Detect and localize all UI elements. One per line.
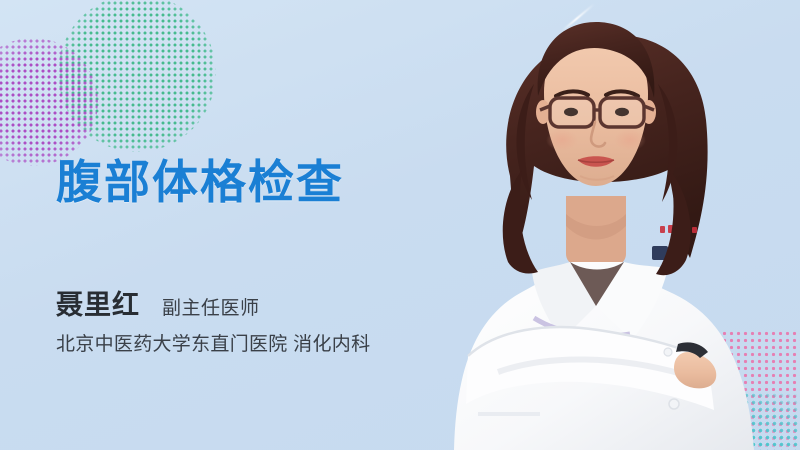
presenter-name: 聂里红 <box>56 283 140 322</box>
page-title: 腹部体格检查 <box>56 146 344 212</box>
presenter-rank: 副主任医师 <box>162 293 260 320</box>
presenter-credit-block: 聂里红 副主任医师 北京中医药大学东直门医院 消化内科 <box>56 283 370 356</box>
doctor-portrait-photo <box>438 0 800 450</box>
presenter-affiliation: 北京中医药大学东直门医院 消化内科 <box>56 329 370 356</box>
slide-canvas: 腹部体格检查 聂里红 副主任医师 北京中医药大学东直门医院 消化内科 <box>0 0 800 450</box>
green-dot-circle-decoration <box>58 0 216 152</box>
presenter-name-row: 聂里红 副主任医师 <box>56 283 370 322</box>
